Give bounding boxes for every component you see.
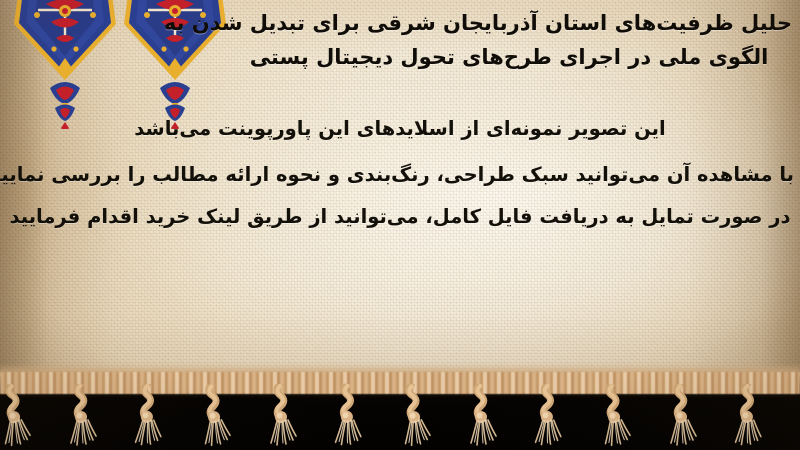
- carpet-fringe-tassel-icon: [135, 383, 164, 446]
- slide-body-paragraph-3: در صورت تمایل به دریافت فایل کامل، می‌تو…: [6, 196, 794, 238]
- slide-canvas: حلیل ظرفیت‌های استان آذربایجان شرقی برای…: [0, 0, 800, 450]
- carpet-fringe-tassel-icon: [602, 383, 631, 446]
- slide-body-paragraph-1: این تصویر نمونه‌ای از اسلایدهای این پاور…: [6, 108, 794, 150]
- slide-title-line-1: حلیل ظرفیت‌های استان آذربایجان شرقی برای…: [226, 6, 792, 40]
- carpet-fringe-zone: [0, 354, 800, 450]
- carpet-fringe-tassel-icon: [671, 384, 697, 446]
- carpet-fringe-tassel-icon: [402, 383, 431, 446]
- slide-title: حلیل ظرفیت‌های استان آذربایجان شرقی برای…: [226, 6, 792, 74]
- carpet-fringe-tassel-icon: [2, 383, 31, 446]
- slide-title-line-2: الگوی ملی در اجرای طرح‌های تحول دیجیتال …: [226, 40, 792, 74]
- carpet-fringe-tassel-icon: [71, 384, 97, 446]
- slide-body: این تصویر نمونه‌ای از اسلایدهای این پاور…: [6, 108, 794, 238]
- carpet-fringe-tassel-icon: [202, 383, 231, 446]
- carpet-fringe-tassel-icon: [535, 383, 564, 446]
- slide-body-paragraph-2: با مشاهده آن می‌توانید سبک طراحی، رنگ‌بن…: [6, 154, 794, 196]
- carpet-fringe-tassel-icon: [471, 384, 497, 446]
- carpet-fringe-tassel-icon: [271, 384, 297, 446]
- carpet-fringe-tassel-icon: [735, 383, 764, 446]
- carpet-fringe-tassel-icon: [335, 383, 364, 446]
